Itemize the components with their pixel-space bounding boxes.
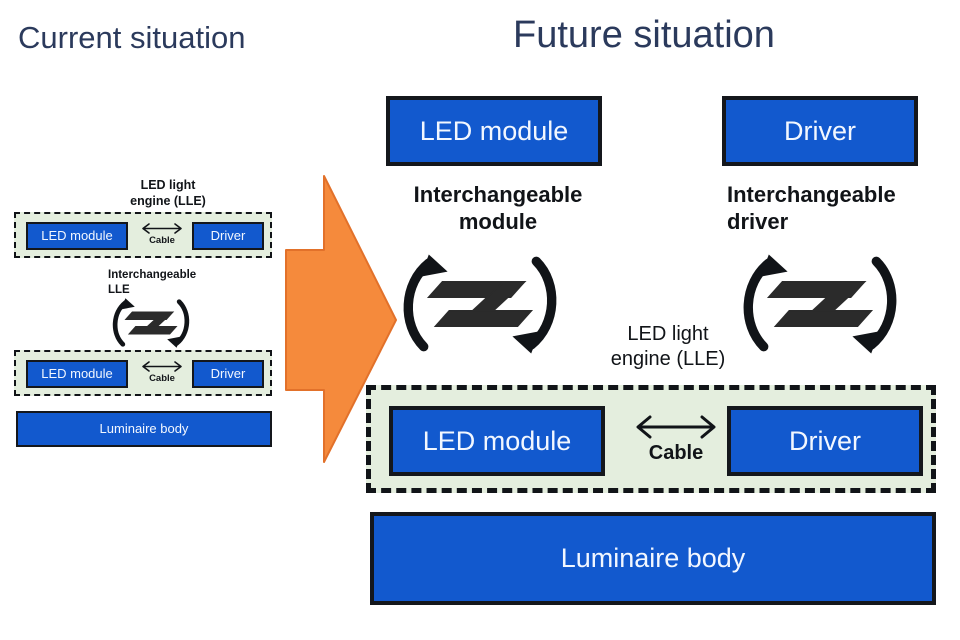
current-cable-connector-top: Cable	[136, 222, 188, 252]
current-lle-caption: LED light engine (LLE)	[108, 178, 228, 209]
future-module-zhaga-mark	[392, 246, 568, 367]
cable-double-arrow-icon	[626, 414, 726, 440]
future-lle-led-module-box[interactable]: LED module	[389, 406, 605, 476]
current-luminaire-body-box[interactable]: Luminaire body	[16, 411, 272, 447]
zhaga-z-cycle-icon	[108, 294, 194, 352]
page-title-future-situation: Future situation	[513, 14, 775, 57]
future-led-module-box[interactable]: LED module	[386, 96, 602, 166]
cable-double-arrow-icon	[136, 222, 188, 235]
current-driver-box-top[interactable]: Driver	[192, 222, 264, 250]
current-driver-box-bottom[interactable]: Driver	[192, 360, 264, 388]
current-zhaga-interchangeable-mark	[108, 294, 194, 357]
zhaga-z-cycle-icon	[732, 246, 908, 362]
current-led-module-box-bottom[interactable]: LED module	[26, 360, 128, 388]
current-lle-container-bottom: LED module Cable Driver	[14, 350, 272, 396]
future-lle-cable-label: Cable	[649, 443, 703, 463]
future-driver-box[interactable]: Driver	[722, 96, 918, 166]
future-lle-container: LED module Cable Driver	[366, 385, 936, 493]
current-cable-label-top: Cable	[149, 236, 175, 246]
future-lle-cable-connector: Cable	[621, 414, 731, 470]
future-lle-caption: LED light engine (LLE)	[588, 322, 748, 372]
page-title-current-situation: Current situation	[18, 20, 245, 56]
current-lle-container-top: LED module Cable Driver	[14, 212, 272, 258]
future-luminaire-body-box[interactable]: Luminaire body	[370, 512, 936, 605]
current-led-module-box-top[interactable]: LED module	[26, 222, 128, 250]
future-interchangeable-driver-caption: Interchangeable driver	[727, 182, 947, 236]
future-interchangeable-module-caption: Interchangeable module	[393, 182, 603, 236]
cable-double-arrow-icon	[136, 360, 188, 373]
current-cable-connector-bottom: Cable	[136, 360, 188, 390]
diagram-canvas: Current situation Future situation LED l…	[0, 0, 960, 640]
current-cable-label-bottom: Cable	[149, 374, 175, 384]
future-driver-zhaga-mark	[732, 246, 908, 367]
zhaga-z-cycle-icon	[392, 246, 568, 362]
future-lle-driver-box[interactable]: Driver	[727, 406, 923, 476]
